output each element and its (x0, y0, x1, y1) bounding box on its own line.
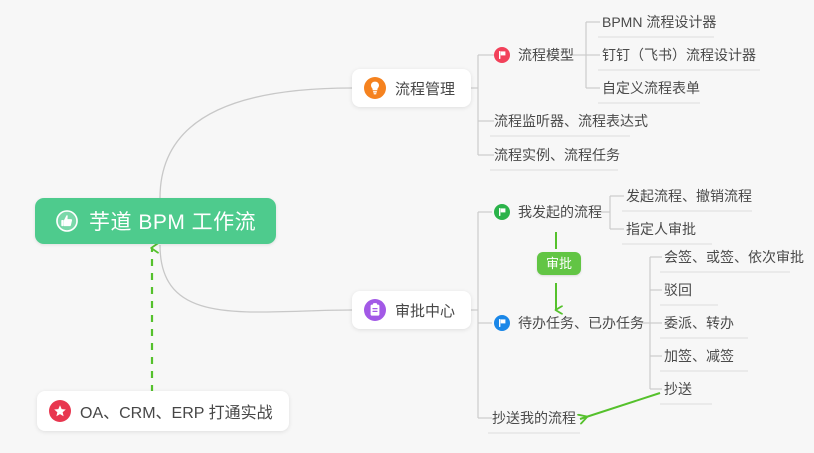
approval-badge-label: 审批 (546, 256, 572, 271)
node-label-countersign-or-sequential: 会签、或签、依次审批 (664, 247, 804, 267)
node-cc-to-me-process[interactable]: 抄送我的流程 (488, 403, 580, 433)
node-label-my-initiated-process: 我发起的流程 (518, 202, 602, 222)
node-delegate-transfer[interactable]: 委派、转办 (660, 308, 738, 338)
node-label-todo-done-tasks: 待办任务、已办任务 (518, 313, 644, 333)
node-process-listener-expression[interactable]: 流程监听器、流程表达式 (490, 106, 652, 136)
node-label-dingtalk-feishu-designer: 钉钉（飞书）流程设计器 (602, 45, 756, 65)
node-cc[interactable]: 抄送 (660, 374, 696, 404)
node-reject[interactable]: 驳回 (660, 275, 696, 305)
node-countersign-or-sequential[interactable]: 会签、或签、依次审批 (660, 242, 808, 272)
node-label-process-instance-task: 流程实例、流程任务 (494, 145, 620, 165)
node-process-instance-task[interactable]: 流程实例、流程任务 (490, 140, 624, 170)
node-label-assignee-approval: 指定人审批 (626, 219, 696, 239)
footer-node-label: OA、CRM、ERP 打通实战 (80, 399, 273, 423)
flag-icon (494, 204, 510, 220)
flag-icon (494, 315, 510, 331)
branch-label-approval-center: 审批中心 (395, 300, 455, 321)
node-label-reject: 驳回 (664, 280, 692, 300)
node-todo-done-tasks[interactable]: 待办任务、已办任务 (492, 308, 648, 338)
node-start-cancel-process[interactable]: 发起流程、撤销流程 (622, 181, 756, 211)
star-icon (49, 400, 71, 422)
node-label-delegate-transfer: 委派、转办 (664, 313, 734, 333)
root-node[interactable]: 芋道 BPM 工作流 (35, 198, 276, 244)
node-label-bpmn-designer: BPMN 流程设计器 (602, 12, 716, 32)
footer-node-integration-practice[interactable]: OA、CRM、ERP 打通实战 (37, 391, 289, 431)
node-my-initiated-process[interactable]: 我发起的流程 (492, 197, 606, 227)
node-custom-process-form[interactable]: 自定义流程表单 (598, 73, 704, 103)
node-label-start-cancel-process: 发起流程、撤销流程 (626, 186, 752, 206)
edge-root-to-approval-center (160, 245, 352, 312)
branch-node-process-management[interactable]: 流程管理 (352, 69, 471, 107)
cc-arrow (580, 393, 660, 419)
node-label-add-remove-sign: 加签、减签 (664, 346, 734, 366)
clipboard-icon (364, 299, 386, 321)
node-label-cc: 抄送 (664, 379, 692, 399)
edge-root-to-process-management (160, 88, 352, 198)
flag-icon (494, 47, 510, 63)
approval-badge: 审批 (537, 252, 581, 275)
node-bpmn-designer[interactable]: BPMN 流程设计器 (598, 7, 720, 37)
node-label-cc-to-me-process: 抄送我的流程 (492, 408, 576, 428)
node-add-remove-sign[interactable]: 加签、减签 (660, 341, 738, 371)
node-label-custom-process-form: 自定义流程表单 (602, 78, 700, 98)
branch-label-process-management: 流程管理 (395, 78, 455, 99)
node-assignee-approval[interactable]: 指定人审批 (622, 214, 700, 244)
node-dingtalk-feishu-designer[interactable]: 钉钉（飞书）流程设计器 (598, 40, 760, 70)
branch-node-approval-center[interactable]: 审批中心 (352, 291, 471, 329)
root-label: 芋道 BPM 工作流 (89, 206, 256, 236)
node-process-model[interactable]: 流程模型 (492, 40, 578, 70)
node-label-process-model: 流程模型 (518, 45, 574, 65)
lightbulb-icon (364, 77, 386, 99)
node-label-process-listener-expression: 流程监听器、流程表达式 (494, 111, 648, 131)
thumbs-up-icon (55, 209, 79, 233)
mindmap-canvas: 芋道 BPM 工作流 流程管理 流程模型 BPMN 流程设计器 钉钉（飞书）流程 (0, 0, 814, 453)
